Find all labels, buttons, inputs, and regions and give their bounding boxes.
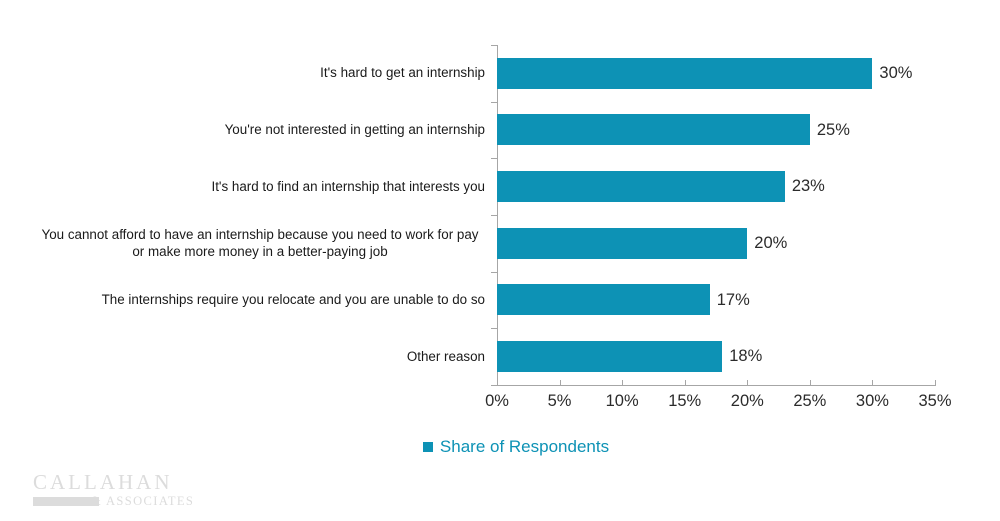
category-label: The internships require you relocate and… (35, 291, 485, 309)
x-axis-tick (497, 380, 498, 385)
bar-value-label: 18% (722, 341, 762, 372)
bar-value-label: 25% (810, 115, 850, 146)
y-axis-tick (491, 158, 497, 159)
bar-row: 18% (497, 328, 935, 385)
bar-value-label: 23% (785, 171, 825, 202)
x-axis-tick (935, 380, 936, 385)
x-axis-tick-label: 10% (587, 392, 657, 411)
y-axis-tick (491, 102, 497, 103)
plot-area: 30%25%23%20%17%18% (497, 45, 935, 385)
bar[interactable] (497, 171, 785, 202)
category-label: It's hard to get an internship (35, 64, 485, 82)
watermark-logo: CALLAHAN & ASSOCIATES (33, 471, 233, 509)
x-axis-tick-label: 35% (900, 392, 970, 411)
watermark-line1: CALLAHAN (33, 471, 233, 493)
x-axis-tick (872, 380, 873, 385)
x-axis-tick-label: 25% (775, 392, 845, 411)
y-axis-tick (491, 272, 497, 273)
x-axis-tick (747, 380, 748, 385)
x-axis-tick (622, 380, 623, 385)
x-axis-tick-label: 5% (525, 392, 595, 411)
bar[interactable] (497, 284, 710, 315)
bar-value-label: 30% (872, 58, 912, 89)
x-axis-tick-label: 15% (650, 392, 720, 411)
bar-value-label: 17% (710, 285, 750, 316)
x-axis-tick-label: 20% (712, 392, 782, 411)
bar-row: 30% (497, 45, 935, 102)
bar[interactable] (497, 341, 722, 372)
bar[interactable] (497, 58, 872, 89)
bar-row: 17% (497, 272, 935, 329)
bar[interactable] (497, 114, 810, 145)
bar-row: 20% (497, 215, 935, 272)
x-axis-tick (685, 380, 686, 385)
watermark-line2: & ASSOCIATES (91, 494, 194, 509)
y-axis-tick (491, 215, 497, 216)
category-label: You're not interested in getting an inte… (35, 121, 485, 139)
bar[interactable] (497, 228, 747, 259)
bar-row: 23% (497, 158, 935, 215)
x-axis-tick-label: 30% (837, 392, 907, 411)
bar-value-label: 20% (747, 228, 787, 259)
category-label: It's hard to find an internship that int… (35, 178, 485, 196)
y-axis-tick (491, 328, 497, 329)
y-axis-tick (491, 385, 497, 386)
bar-chart: It's hard to get an internshipYou're not… (0, 0, 1000, 521)
x-axis-line (497, 385, 936, 386)
category-label: You cannot afford to have an internship … (35, 226, 485, 261)
y-axis-tick (491, 45, 497, 46)
legend-label: Share of Respondents (440, 437, 609, 457)
legend-swatch-icon (423, 442, 433, 452)
bar-row: 25% (497, 102, 935, 159)
x-axis-tick (560, 380, 561, 385)
category-label: Other reason (35, 348, 485, 366)
x-axis-tick-label: 0% (462, 392, 532, 411)
x-axis-tick (810, 380, 811, 385)
watermark-bar (33, 497, 99, 506)
chart-legend: Share of Respondents (0, 437, 1000, 457)
